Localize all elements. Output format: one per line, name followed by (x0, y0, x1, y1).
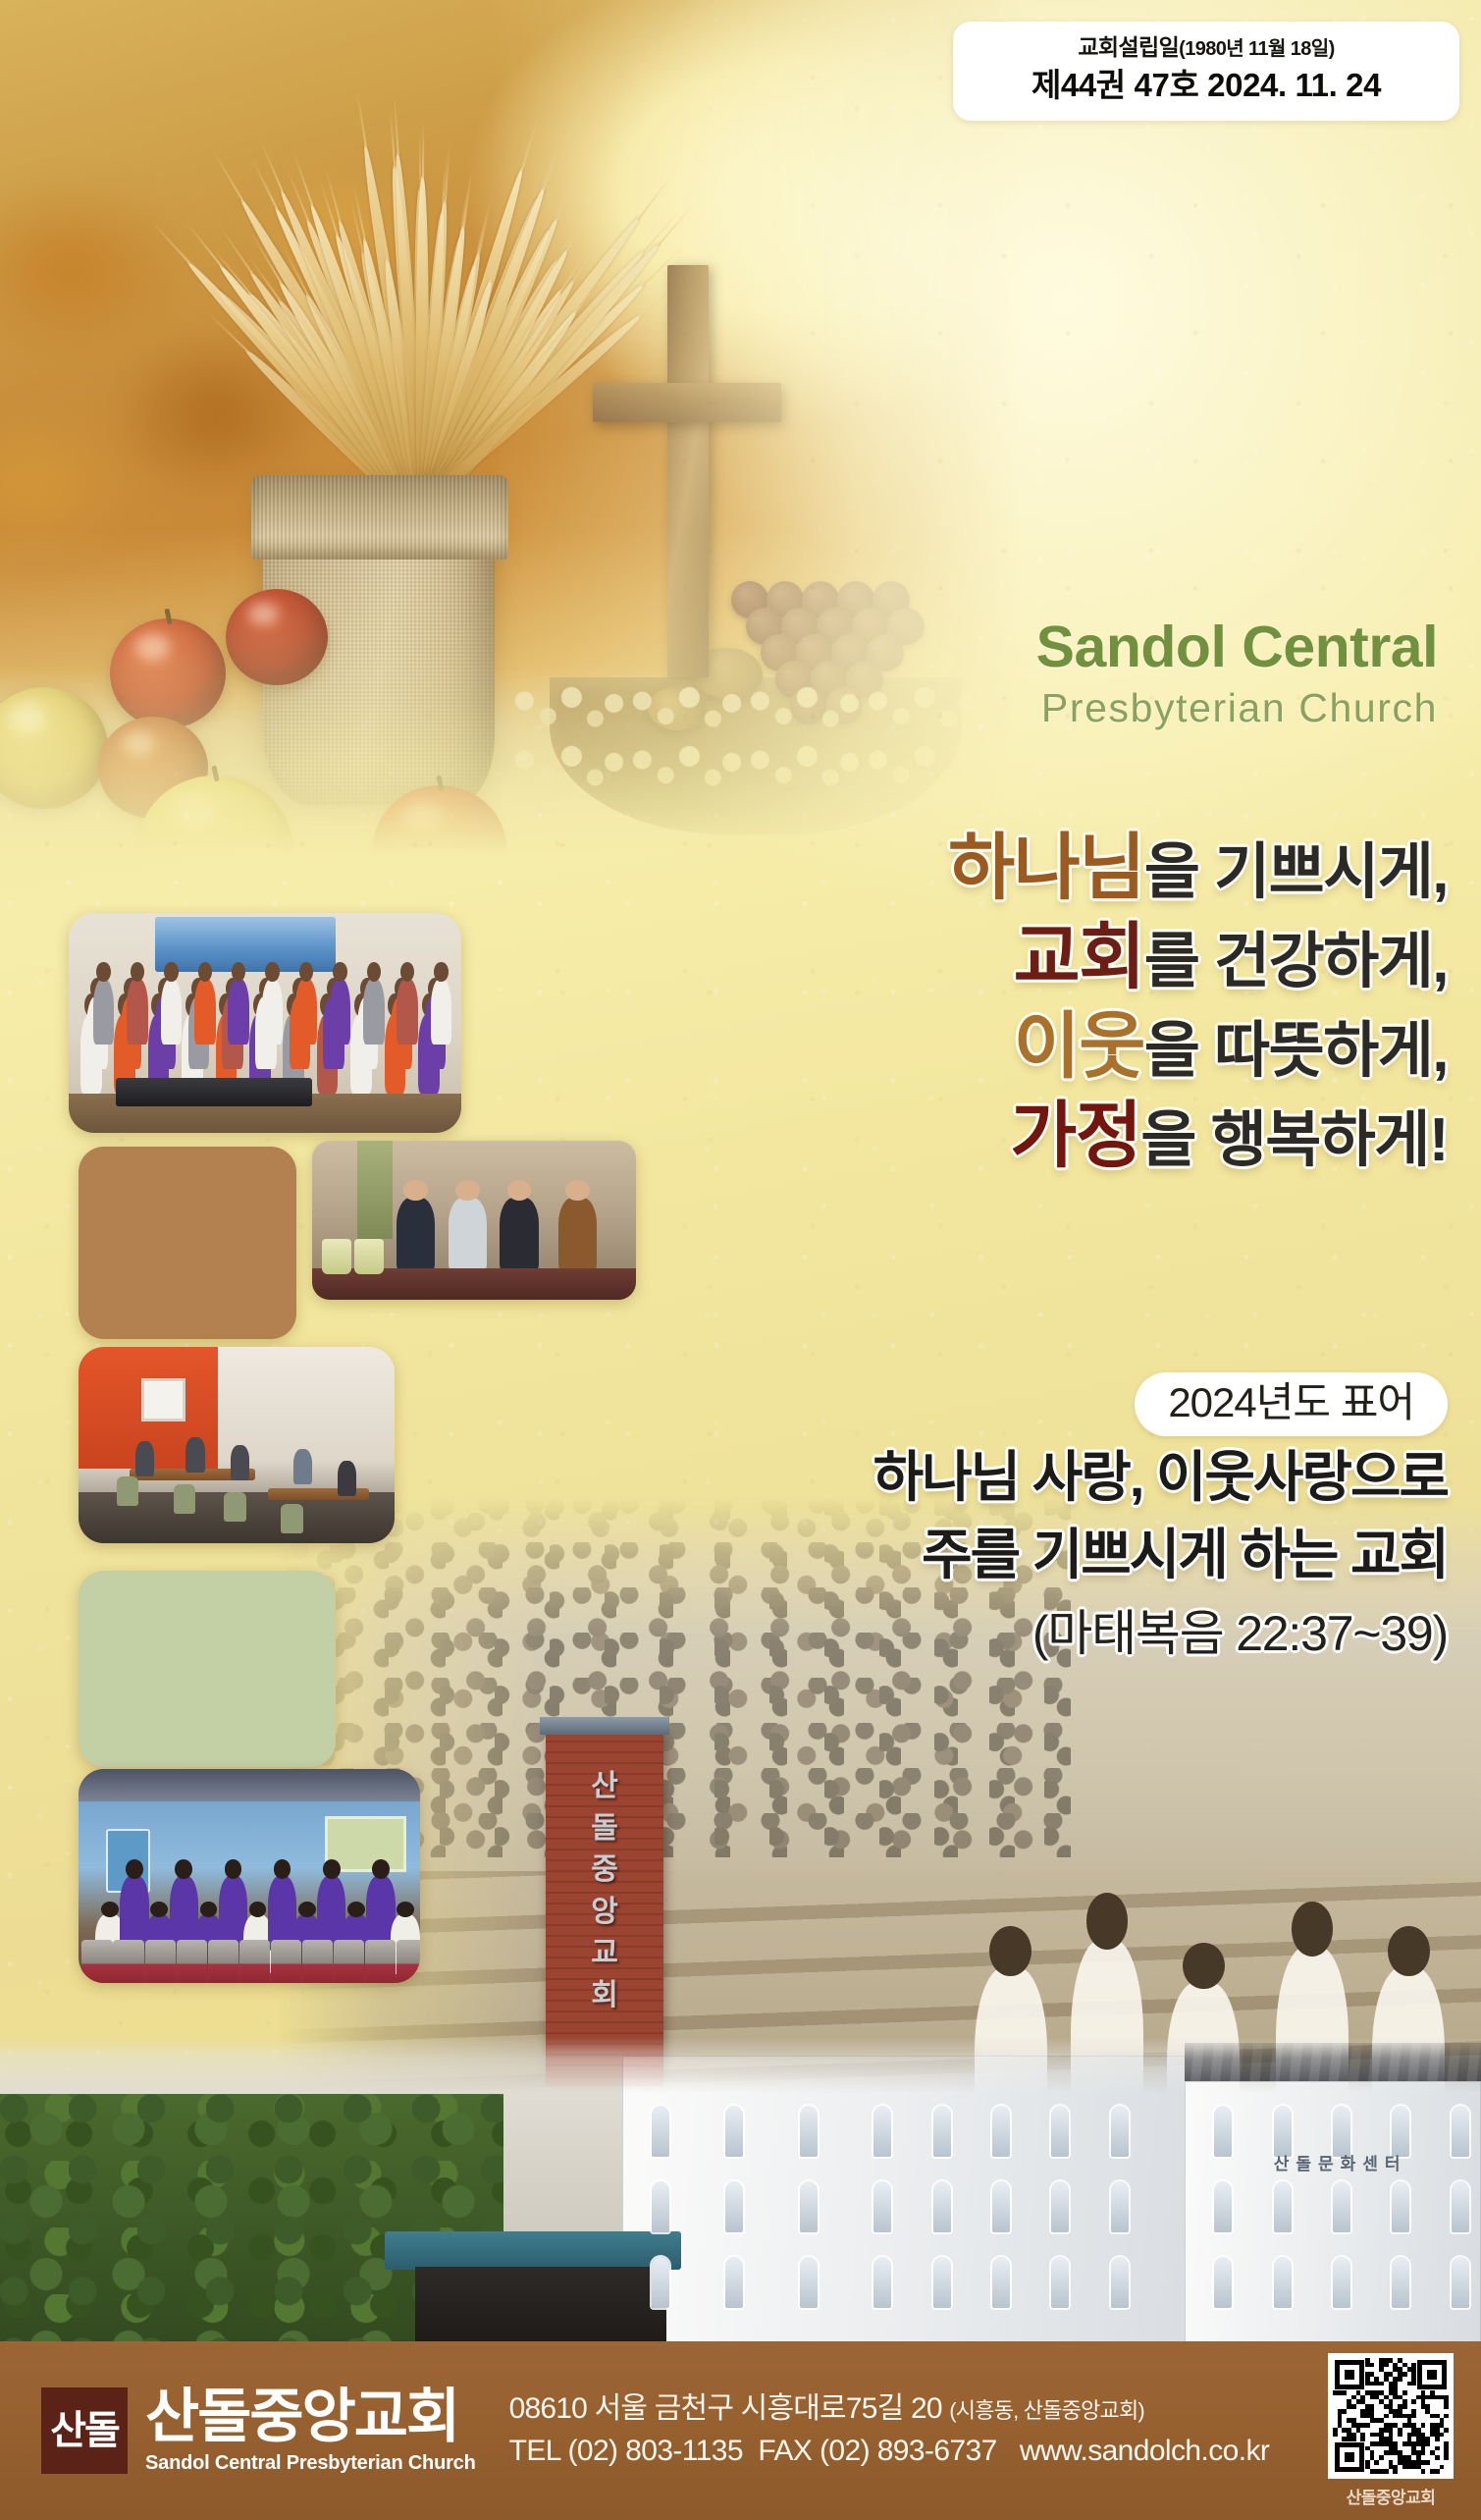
keyboard-equipment (116, 1078, 312, 1106)
tower-sign-char: 산 (546, 1766, 663, 1808)
qr-module (1402, 2390, 1407, 2395)
tower-sign-char: 앙 (546, 1892, 663, 1934)
qr-module (1360, 2437, 1365, 2441)
qr-module (1444, 2404, 1449, 2409)
phone-line: TEL (02) 803-1135 FAX (02) 893-6737 www.… (509, 2432, 1328, 2472)
bottle-item (322, 1239, 351, 1274)
motto-line-2: 주를 기쁘시게 하는 교회 (535, 1520, 1448, 1591)
annex-building-sign: 산돌문화센터 (1274, 2150, 1407, 2174)
choir-member (127, 979, 148, 1045)
building-window (933, 2106, 951, 2157)
folding-chair (81, 1940, 112, 1983)
qr-module (1425, 2441, 1430, 2446)
founding-label: 교회설립일 (1078, 34, 1179, 60)
qr-caption: 산돌중앙교회 (1328, 2484, 1454, 2508)
choir-member-head (265, 962, 279, 982)
contact-info: 08610 서울 금천구 시흥대로75길 20 (시흥동, 산돌중앙교회) TE… (509, 2389, 1328, 2472)
burlap-cuff (251, 475, 508, 560)
building-window (1111, 2181, 1129, 2232)
qr-module (1398, 2377, 1402, 2382)
qr-module (1440, 2433, 1445, 2438)
hero-harvest-image (0, 0, 1021, 854)
bottle-item (354, 1239, 384, 1274)
brand-line-2: Presbyterian Church (1036, 682, 1438, 734)
cafe-guest (338, 1461, 356, 1496)
slogan-keyword-family: 가정 (1010, 1095, 1140, 1176)
qr-module (1402, 2372, 1407, 2377)
bazaar-visitor (449, 1198, 488, 1271)
qr-module (1421, 2450, 1426, 2455)
tower-sign-char: 돌 (546, 1808, 663, 1850)
logo-wordmark: 산돌중앙교회 Sandol Central Presbyterian Churc… (145, 2387, 476, 2474)
folding-chair (271, 1940, 301, 1983)
tiled-roof-house (385, 2231, 681, 2269)
child-head (274, 1859, 291, 1879)
qr-module (1384, 2363, 1389, 2368)
folding-chair (113, 1940, 143, 1983)
tower-sign-char: 회 (546, 1975, 663, 2017)
cafe-guest (185, 1437, 204, 1473)
wooden-cross-icon (599, 265, 775, 677)
cafe-chair (174, 1484, 196, 1514)
brand-line-1: Sandol Central (1036, 618, 1438, 676)
building-window (992, 2106, 1010, 2157)
motto-scripture-reference: (마태복음 22:37~39) (535, 1601, 1448, 1668)
cafe-guest (135, 1441, 154, 1476)
folding-chair (145, 1940, 176, 1983)
slogan-line-1: 하나님을 기쁘시게, (564, 823, 1448, 912)
qr-module (1444, 2428, 1449, 2433)
slogan-line-2: 교회를 건강하게, (564, 912, 1448, 1001)
qr-module (1370, 2363, 1375, 2368)
building-window (873, 2181, 891, 2232)
building-window (800, 2106, 818, 2157)
address-detail: (시흥동, 산돌중앙교회) (949, 2398, 1144, 2423)
kids-ceiling (79, 1769, 420, 1801)
vertical-church-sign: 산돌중앙교회 (546, 1766, 663, 2017)
building-window (800, 2181, 818, 2232)
choir-member (194, 979, 216, 1045)
slogan-rest-2: 를 건강하게, (1144, 928, 1448, 995)
qr-module (1411, 2414, 1416, 2419)
choir-member-head (164, 962, 178, 982)
children-worship-photo (79, 1769, 420, 1983)
choir-member (262, 979, 284, 1045)
slogan-rest-1: 을 기쁘시게, (1144, 838, 1448, 906)
church-logo[interactable]: 산돌 산돌중앙교회 Sandol Central Presbyterian Ch… (41, 2387, 476, 2474)
building-window (1214, 2106, 1232, 2157)
building-window (1214, 2257, 1232, 2308)
slogan-line-4: 가정을 행복하게! (564, 1091, 1448, 1180)
building-window (1333, 2181, 1350, 2232)
folding-chair (239, 1940, 270, 1983)
cafe-chair (117, 1476, 139, 1506)
qr-module (1435, 2469, 1440, 2474)
choir-scene (69, 913, 461, 1133)
building-window (1452, 2181, 1469, 2232)
building-window (800, 2257, 818, 2308)
qr-module (1440, 2465, 1445, 2470)
building-window (1452, 2257, 1469, 2308)
address-main: 08610 서울 금천구 시흥대로75길 20 (509, 2392, 942, 2425)
qr-module (1384, 2414, 1389, 2419)
church-exterior-photo: 산돌문화센터 (0, 2037, 1481, 2351)
building-window (1333, 2257, 1350, 2308)
child-head (126, 1859, 143, 1879)
building-window (992, 2181, 1010, 2232)
qr-module (1444, 2455, 1449, 2460)
choir-member-head (96, 962, 110, 982)
building-window (1051, 2257, 1069, 2308)
logo-mark-text: 산돌 (41, 2387, 128, 2474)
cafe-guest (231, 1445, 249, 1480)
child-head (101, 1902, 119, 1917)
building-window (1392, 2181, 1409, 2232)
qr-module (1351, 2437, 1356, 2441)
choir-photo (69, 913, 461, 1133)
bazaar-visitor (397, 1198, 436, 1271)
qr-pattern (1333, 2358, 1449, 2474)
logo-korean-name: 산돌중앙교회 (145, 2387, 476, 2446)
child-head (249, 1902, 267, 1917)
choir-member (397, 979, 418, 1045)
building-window (1452, 2106, 1469, 2157)
building-window (725, 2106, 743, 2157)
building-window (1051, 2106, 1069, 2157)
qr-module (1444, 2414, 1449, 2419)
tower-cap (540, 1717, 669, 1735)
slogan-keyword-god: 하나님 (948, 827, 1144, 908)
qr-module (1435, 2446, 1440, 2451)
choir-member-head (333, 962, 346, 982)
qr-module (1384, 2469, 1389, 2474)
apple-red (226, 589, 328, 685)
church-brick-tower: 산돌중앙교회 (546, 1733, 663, 2086)
qr-section[interactable]: 산돌중앙교회 (1328, 2353, 1454, 2508)
choir-member (295, 979, 317, 1045)
child-head (150, 1902, 168, 1917)
building-window (992, 2257, 1010, 2308)
motto-year-badge: 2024년도 표어 (1135, 1372, 1448, 1436)
child-head (323, 1859, 341, 1879)
annual-motto-block: 2024년도 표어 하나님 사랑, 이웃사랑으로 주를 기쁘시게 하는 교회 (… (535, 1372, 1448, 1667)
bazaar-visitor (500, 1198, 539, 1271)
child-head (225, 1859, 242, 1879)
building-window (652, 2181, 669, 2232)
qr-finder-top-right (1417, 2360, 1447, 2389)
slogan-rest-3: 을 따뜻하게, (1144, 1017, 1448, 1085)
building-window (1111, 2106, 1129, 2157)
qr-module (1435, 2437, 1440, 2441)
building-window (1274, 2181, 1292, 2232)
masthead-date-box: 교회설립일(1980년 11월 18일) 제44권 47호 2024. 11. … (953, 22, 1459, 121)
qr-code-icon[interactable] (1328, 2353, 1454, 2479)
slogan-keyword-church: 교회 (1014, 916, 1144, 997)
qr-module (1365, 2423, 1370, 2428)
building-window (873, 2106, 891, 2157)
qr-module (1411, 2382, 1416, 2386)
building-window (1392, 2257, 1409, 2308)
building-window (1111, 2257, 1129, 2308)
photo-placeholder-green (79, 1571, 336, 1767)
building-window (1274, 2257, 1292, 2308)
folding-chair (302, 1940, 333, 1983)
tower-sign-char: 중 (546, 1850, 663, 1892)
choir-member-head (434, 962, 448, 982)
folding-chair (397, 1940, 420, 1983)
choir-member (431, 979, 452, 1045)
building-window (1214, 2181, 1232, 2232)
choir-member-head (367, 962, 381, 982)
choir-member (228, 979, 249, 1045)
choir-member (330, 979, 351, 1045)
building-window (652, 2106, 669, 2157)
building-window (1051, 2181, 1069, 2232)
building-window (652, 2257, 669, 2308)
qr-module (1342, 2390, 1347, 2395)
issue-number: 제44권 47호 2024. 11. 24 (975, 66, 1438, 105)
choir-member-head (198, 962, 212, 982)
folding-chair (334, 1940, 364, 1983)
cross-vertical (667, 265, 709, 677)
fax-number: FAX (02) 893-6737 (758, 2435, 996, 2467)
child-head (397, 1902, 414, 1917)
cafe-fellowship-photo (79, 1347, 395, 1543)
qr-module (1379, 2455, 1384, 2460)
photo-placeholder-brown (79, 1147, 296, 1339)
cafe-scene (79, 1347, 395, 1543)
qr-module (1333, 2433, 1338, 2438)
qr-module (1379, 2382, 1384, 2386)
folding-chair (208, 1940, 238, 1983)
cross-horizontal (593, 383, 781, 422)
qr-module (1342, 2409, 1347, 2414)
qr-finder-top-left (1335, 2360, 1364, 2389)
hall-pillar (357, 1141, 393, 1239)
address-line: 08610 서울 금천구 시흥대로75길 20 (시흥동, 산돌중앙교회) (509, 2389, 1328, 2428)
qr-module (1421, 2469, 1426, 2474)
cafe-guest (293, 1449, 312, 1484)
qr-module (1374, 2460, 1379, 2465)
logo-mark-icon: 산돌 (41, 2387, 128, 2474)
qr-module (1351, 2404, 1356, 2409)
child-head (298, 1902, 316, 1917)
tower-sign-char: 교 (546, 1933, 663, 1975)
building-window (873, 2257, 891, 2308)
qr-module (1435, 2455, 1440, 2460)
founding-date: (1980년 11월 18일) (1179, 38, 1335, 60)
bazaar-visitor (558, 1198, 598, 1271)
cafe-window (141, 1378, 185, 1421)
qr-module (1393, 2469, 1398, 2474)
slogan-keyword-neighbor: 이웃 (1014, 1005, 1144, 1087)
qr-module (1398, 2433, 1402, 2438)
logo-english-name: Sandol Central Presbyterian Church (145, 2452, 476, 2474)
slogan-rest-4: 을 행복하게! (1140, 1106, 1448, 1174)
child-head (200, 1902, 218, 1917)
building-window (725, 2257, 743, 2308)
choir-member (93, 979, 115, 1045)
choir-member (161, 979, 183, 1045)
bulletin-cover-page: 교회설립일(1980년 11월 18일) 제44권 47호 2024. 11. … (0, 0, 1481, 2520)
child-head (175, 1859, 192, 1879)
telephone-number[interactable]: TEL (02) 803-1135 (509, 2435, 743, 2467)
church-english-name: Sandol Central Presbyterian Church (1036, 618, 1438, 734)
qr-module (1425, 2460, 1430, 2465)
qr-module (1421, 2423, 1426, 2428)
choir-member-head (131, 962, 144, 982)
building-window (725, 2181, 743, 2232)
choir-member (363, 979, 385, 1045)
building-window (933, 2181, 951, 2232)
child-head (372, 1859, 390, 1879)
website-url[interactable]: www.sandolch.co.kr (1020, 2435, 1269, 2467)
founding-date-line: 교회설립일(1980년 11월 18일) (975, 33, 1438, 62)
choir-member-head (299, 962, 313, 982)
grain-pile (510, 677, 1021, 795)
cafe-chair (224, 1492, 246, 1522)
folding-chair (177, 1940, 207, 1983)
motto-line-1: 하나님 사랑, 이웃사랑으로 (535, 1442, 1448, 1514)
folding-chair (365, 1940, 396, 1983)
qr-module (1402, 2404, 1407, 2409)
apple-red (110, 618, 226, 728)
vision-slogan: 하나님을 기쁘시게, 교회를 건강하게, 이웃을 따뜻하게, 가정을 행복하게! (564, 823, 1448, 1180)
slogan-line-3: 이웃을 따뜻하게, (564, 1001, 1448, 1091)
footer-bar: 산돌 산돌중앙교회 Sandol Central Presbyterian Ch… (0, 2341, 1481, 2520)
cafe-chair (281, 1504, 303, 1533)
qr-finder-bottom-left (1335, 2442, 1364, 2472)
building-window (933, 2257, 951, 2308)
dark-house (415, 2267, 667, 2351)
child-head (347, 1902, 365, 1917)
qr-module (1411, 2399, 1416, 2404)
kids-scene (79, 1769, 420, 1983)
